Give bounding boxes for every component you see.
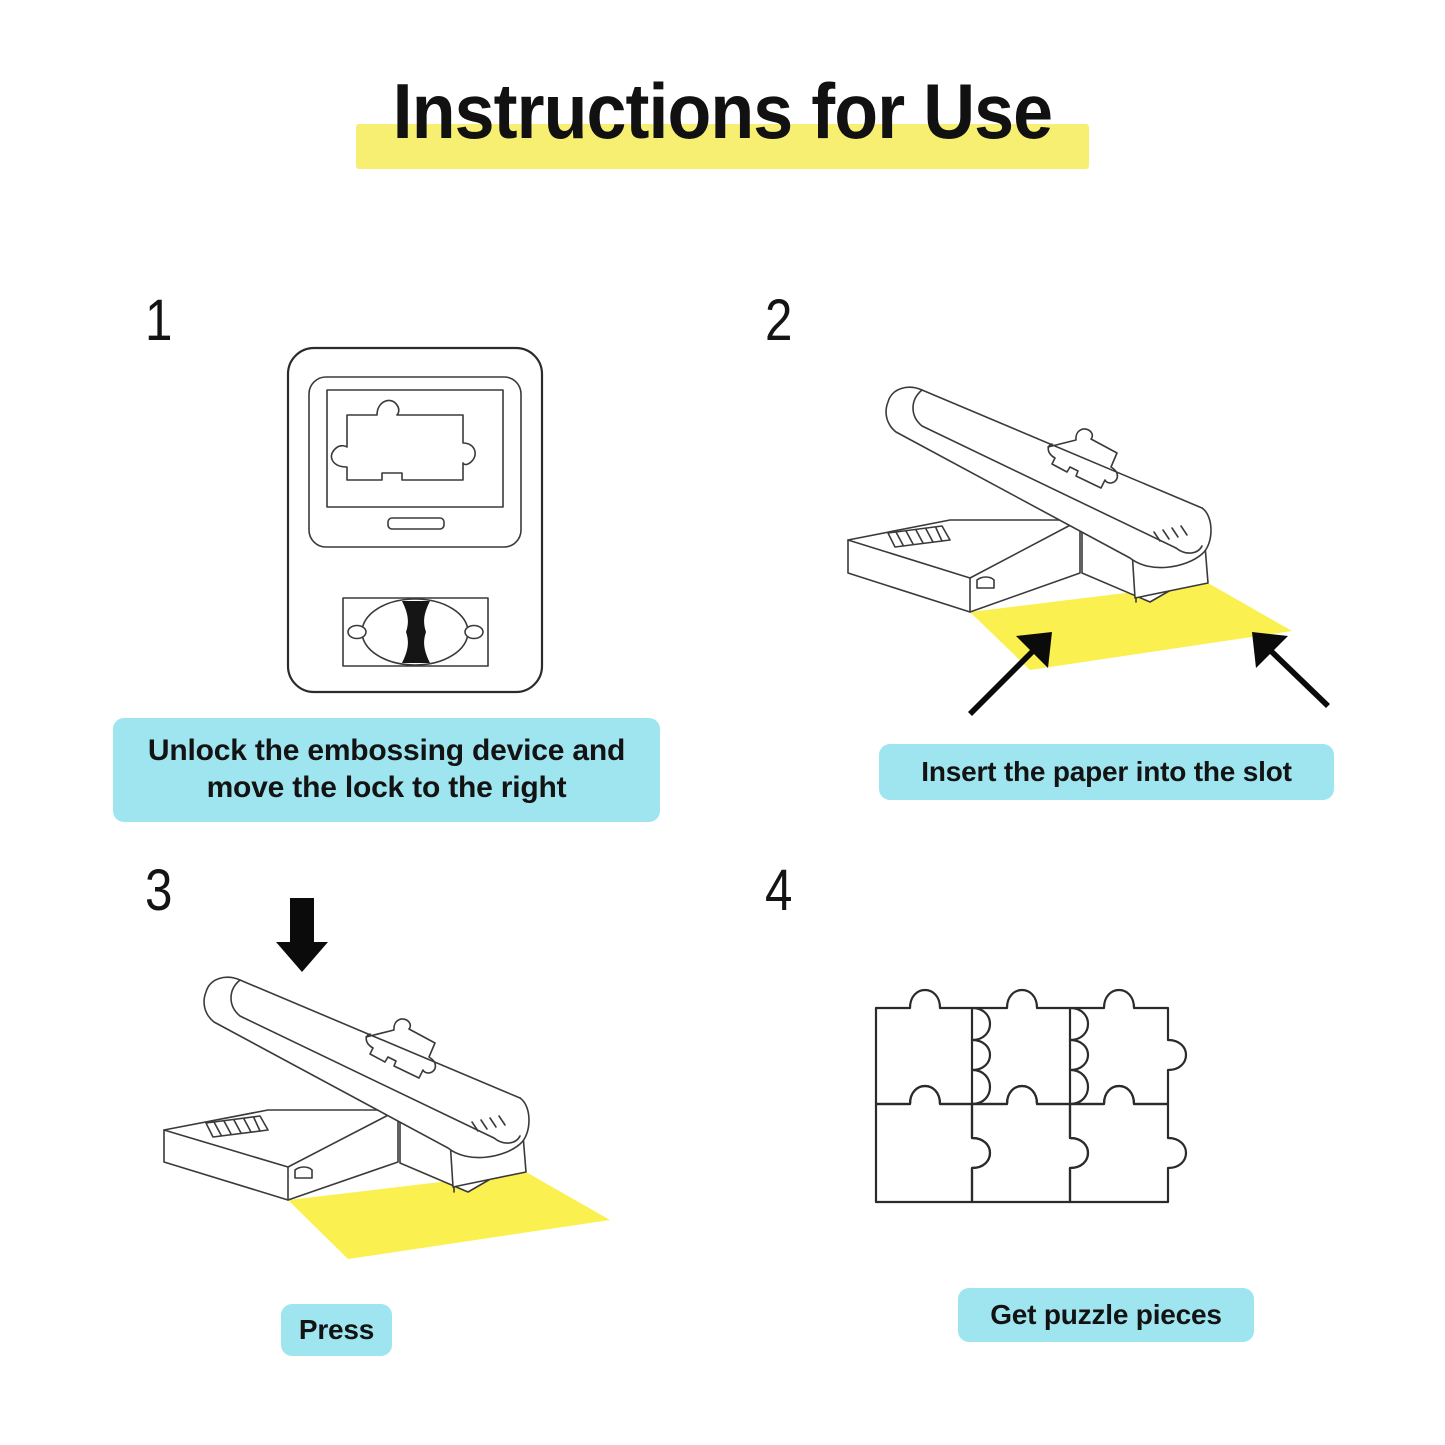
step-4-illustration bbox=[862, 962, 1282, 1224]
device-base-tray bbox=[164, 1110, 398, 1200]
puzzle-piece-r1c3 bbox=[1070, 990, 1186, 1104]
step-3-caption: Press bbox=[281, 1304, 392, 1356]
step-1-illustration bbox=[285, 345, 545, 695]
yellow-paper-sheet bbox=[288, 1172, 610, 1259]
step-4-caption: Get puzzle pieces bbox=[958, 1288, 1254, 1342]
device-base-tray bbox=[848, 520, 1080, 612]
lock-marker-left bbox=[348, 626, 366, 639]
device-slot bbox=[388, 518, 444, 529]
puzzle-piece-r2c3 bbox=[1070, 1086, 1186, 1202]
page-title-text: Instructions for Use bbox=[393, 72, 1052, 150]
page-title: Instructions for Use bbox=[0, 72, 1445, 150]
step-2-caption: Insert the paper into the slot bbox=[879, 744, 1334, 800]
step-3-number: 3 bbox=[145, 862, 172, 920]
lock-knob bbox=[402, 601, 430, 663]
step-2-number: 2 bbox=[765, 292, 792, 350]
lock-marker-right bbox=[465, 626, 483, 639]
step-1-number: 1 bbox=[145, 292, 172, 350]
step-4-number: 4 bbox=[765, 862, 792, 920]
step-2-illustration bbox=[830, 340, 1340, 730]
press-down-arrow-icon bbox=[276, 898, 328, 972]
yellow-paper-sheet bbox=[970, 583, 1292, 670]
instructions-page: Instructions for Use 1 bbox=[0, 0, 1445, 1445]
step-3-illustration bbox=[180, 880, 640, 1300]
insert-arrow-right-icon bbox=[1252, 632, 1330, 708]
step-1-caption: Unlock the embossing device and move the… bbox=[113, 718, 660, 822]
